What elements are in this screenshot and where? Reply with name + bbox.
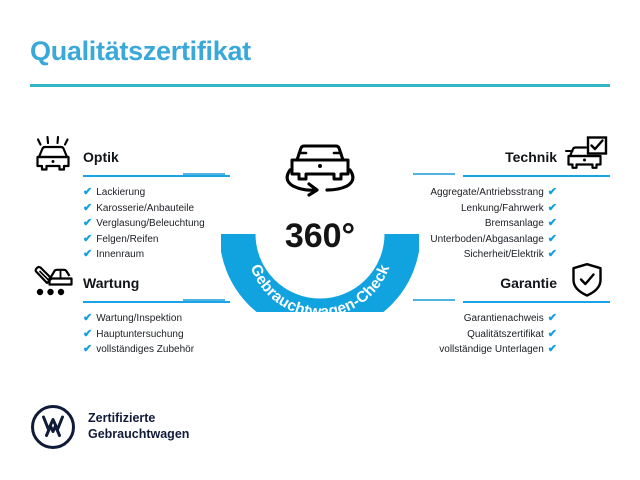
list-item: ✔Innenraum — [30, 247, 230, 263]
check-icon: ✔ — [83, 185, 92, 201]
check-icon: ✔ — [548, 216, 557, 232]
badge-value: 360° — [285, 217, 355, 255]
shield-check-icon — [564, 262, 610, 298]
section-divider — [463, 301, 610, 303]
section-divider — [83, 175, 230, 177]
header-divider — [30, 84, 610, 87]
check-icon: ✔ — [548, 327, 557, 343]
section-header: Wartung — [30, 266, 230, 300]
vw-logo-icon — [30, 404, 76, 450]
section-title: Technik — [505, 149, 557, 165]
list-item: Sicherheit/Elektrik✔ — [410, 247, 610, 263]
section-header: Optik — [30, 140, 230, 174]
list-item: Garantienachweis✔ — [410, 311, 610, 327]
list-item: Qualitätszertifikat✔ — [410, 327, 610, 343]
list-item: Aggregate/Antriebsstrang✔ — [410, 185, 610, 201]
list-item-label: Unterboden/Abgasanlage — [430, 234, 543, 245]
section-title: Garantie — [500, 275, 557, 291]
check-icon: ✔ — [548, 201, 557, 217]
check-icon: ✔ — [83, 342, 92, 358]
list-item-label: Bremsanlage — [485, 218, 544, 229]
list-item: ✔Karosserie/Anbauteile — [30, 201, 230, 217]
footer-brand-text: Zertifizierte Gebrauchtwagen — [88, 410, 189, 442]
list-item-label: Qualitätszertifikat — [467, 329, 544, 340]
checklist-garantie: Garantienachweis✔ Qualitätszertifikat✔ v… — [410, 311, 610, 358]
section-header: Technik — [410, 140, 610, 174]
list-item-label: Karosserie/Anbauteile — [96, 203, 194, 214]
checklist-optik: ✔Lackierung ✔Karosserie/Anbauteile ✔Verg… — [30, 185, 230, 263]
checklist-wartung: ✔Wartung/Inspektion ✔Hauptuntersuchung ✔… — [30, 311, 230, 358]
certificate-page: Qualitätszertifikat — [0, 0, 640, 480]
list-item-label: Verglasung/Beleuchtung — [96, 218, 204, 229]
section-technik: Technik Aggregate/Antriebsstrang✔ Lenkun… — [410, 140, 610, 263]
list-item: ✔Hauptuntersuchung — [30, 327, 230, 343]
check-icon: ✔ — [548, 232, 557, 248]
list-item: vollständige Unterlagen✔ — [410, 342, 610, 358]
check-icon: ✔ — [548, 185, 557, 201]
check-icon: ✔ — [83, 232, 92, 248]
section-garantie: Garantie Garantienachweis✔ Qualitätszert… — [410, 266, 610, 358]
check-icon: ✔ — [548, 311, 557, 327]
badge-360-gebrauchtwagen-check: Gebrauchtwagen-Check 360° — [221, 122, 419, 312]
list-item: ✔Wartung/Inspektion — [30, 311, 230, 327]
list-item-label: Felgen/Reifen — [96, 234, 158, 245]
check-icon: ✔ — [83, 311, 92, 327]
section-wartung: Wartung ✔Wartung/Inspektion ✔Hauptunters… — [30, 266, 230, 358]
list-item-label: Sicherheit/Elektrik — [464, 249, 544, 260]
car-front-shine-icon — [30, 136, 76, 172]
checklist-technik: Aggregate/Antriebsstrang✔ Lenkung/Fahrwe… — [410, 185, 610, 263]
section-title: Optik — [83, 149, 119, 165]
section-divider — [463, 175, 610, 177]
section-optik: Optik ✔Lackierung ✔Karosserie/Anbauteile… — [30, 140, 230, 263]
list-item: Lenkung/Fahrwerk✔ — [410, 201, 610, 217]
section-divider — [83, 301, 230, 303]
list-item-label: Lackierung — [96, 187, 145, 198]
list-item: Unterboden/Abgasanlage✔ — [410, 232, 610, 248]
list-item-label: Innenraum — [96, 249, 144, 260]
check-icon: ✔ — [83, 247, 92, 263]
list-item-label: Hauptuntersuchung — [96, 329, 183, 340]
list-item: ✔Lackierung — [30, 185, 230, 201]
list-item: ✔Verglasung/Beleuchtung — [30, 216, 230, 232]
car-rotate-360-icon — [287, 146, 353, 195]
car-service-wrench-icon — [30, 262, 76, 298]
check-icon: ✔ — [83, 216, 92, 232]
list-item: Bremsanlage✔ — [410, 216, 610, 232]
check-icon: ✔ — [83, 201, 92, 217]
list-item-label: Aggregate/Antriebsstrang — [430, 187, 543, 198]
list-item-label: vollständige Unterlagen — [439, 344, 544, 355]
list-item: ✔Felgen/Reifen — [30, 232, 230, 248]
list-item-label: Garantienachweis — [464, 313, 544, 324]
section-header: Garantie — [410, 266, 610, 300]
footer-line-1: Zertifizierte — [88, 411, 155, 425]
check-icon: ✔ — [83, 327, 92, 343]
check-icon: ✔ — [548, 342, 557, 358]
section-title: Wartung — [83, 275, 139, 291]
list-item: ✔vollständiges Zubehör — [30, 342, 230, 358]
car-checkbox-icon — [564, 136, 610, 172]
list-item-label: Wartung/Inspektion — [96, 313, 182, 324]
footer-line-2: Gebrauchtwagen — [88, 427, 189, 441]
page-title: Qualitätszertifikat — [30, 36, 251, 67]
check-icon: ✔ — [548, 247, 557, 263]
list-item-label: vollständiges Zubehör — [96, 344, 194, 355]
list-item-label: Lenkung/Fahrwerk — [461, 203, 544, 214]
